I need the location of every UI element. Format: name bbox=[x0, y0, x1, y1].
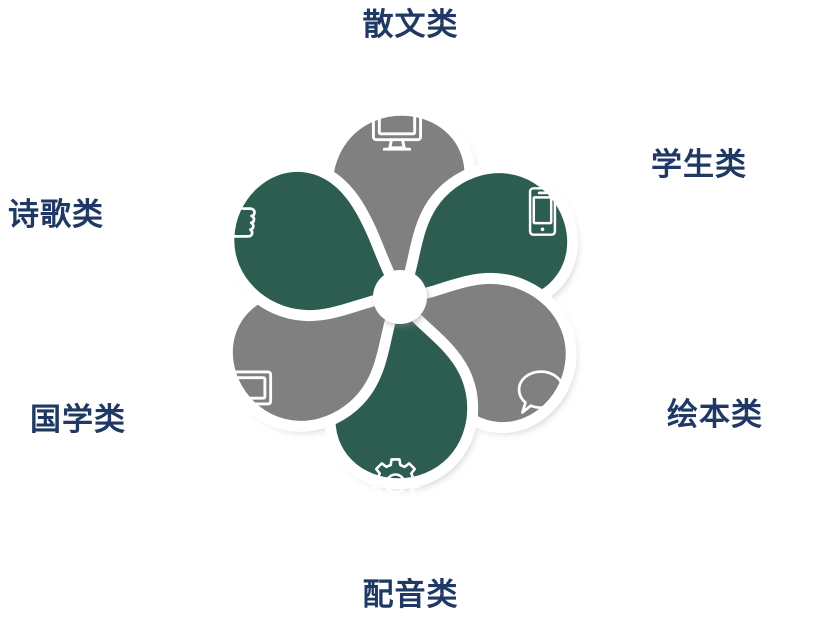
petal-label-top-right: 学生类 bbox=[651, 148, 747, 182]
petal-label-bottom-right: 绘本类 bbox=[667, 398, 763, 432]
diagram-canvas: 散文类 学生类 绘本类 配音类 国学类 诗歌类 bbox=[0, 0, 821, 627]
petal-label-bottom: 配音类 bbox=[0, 578, 821, 612]
petal-label-top-left: 诗歌类 bbox=[8, 198, 104, 232]
petal-label-bottom-left: 国学类 bbox=[30, 403, 126, 437]
center-hub-inner bbox=[374, 271, 426, 323]
petal-label-top: 散文类 bbox=[0, 8, 821, 42]
petal-flower-graphic bbox=[0, 0, 821, 627]
